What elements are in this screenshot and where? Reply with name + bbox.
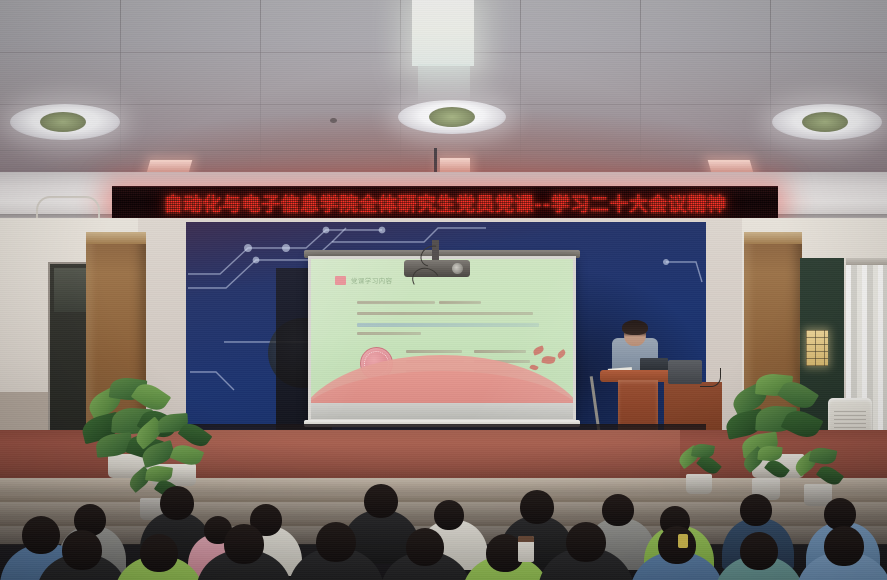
- audience-head: [740, 532, 778, 570]
- slide-body-line-highlight: [357, 323, 539, 327]
- projection-screen: 党课学习内容: [308, 256, 576, 422]
- slide-body-line: [357, 301, 435, 304]
- slide-body-line: [439, 301, 481, 304]
- audience-phone: [678, 534, 688, 548]
- doorway-transom: [54, 268, 88, 312]
- smoke-detector-icon: [330, 118, 337, 123]
- led-scrolling-banner: 自动化与电子信息学院全体研究生党员党课--学习二十大会议精神: [112, 186, 778, 220]
- audience-cup: [518, 536, 534, 562]
- audience-head: [406, 528, 444, 566]
- audience-head: [602, 494, 634, 526]
- audience-head: [140, 534, 178, 572]
- oval-light-right: [772, 104, 882, 140]
- audience-head: [224, 524, 264, 564]
- audience-head: [364, 484, 398, 518]
- slide-bird-icon: [532, 345, 545, 355]
- slide-body-line: [357, 332, 421, 335]
- slide-item: [406, 350, 462, 353]
- seated-audience: [0, 468, 887, 580]
- door-window-grid: [806, 330, 828, 366]
- equipment-box: [668, 360, 702, 384]
- curtain-rod: [846, 258, 887, 265]
- skylight-glow: [418, 64, 470, 104]
- presentation-slide: 党课学习内容: [311, 259, 573, 419]
- audience-head: [658, 526, 696, 564]
- audience-head: [520, 490, 554, 524]
- audience-head: [434, 500, 464, 530]
- ceiling-skylight-panel: [412, 0, 474, 66]
- slide-body-line: [357, 312, 533, 315]
- audience-head: [824, 526, 864, 566]
- audience-head: [160, 486, 194, 520]
- cup-lid: [518, 536, 534, 542]
- projector-lens: [452, 263, 463, 274]
- wall-conduit: [36, 196, 100, 220]
- speaker-hair: [622, 320, 648, 335]
- oval-light-center: [398, 100, 506, 134]
- lecture-hall-photo: 自动化与电子信息学院全体研究生党员党课--学习二十大会议精神: [0, 0, 887, 580]
- slide-bottom-bar: [311, 403, 573, 419]
- oval-light-left: [10, 104, 120, 140]
- audience-head: [22, 516, 60, 554]
- slide-bird-icon: [556, 349, 567, 359]
- audience-head: [824, 498, 856, 530]
- audience-head: [316, 522, 356, 562]
- led-banner-text: 自动化与电子信息学院全体研究生党员党课--学习二十大会议精神: [120, 190, 770, 217]
- slide-bird-icon: [541, 355, 555, 366]
- slide-title-bullet: [335, 276, 346, 285]
- pillar-right-capital: [744, 232, 802, 244]
- door-light-window: [806, 330, 828, 366]
- slide-item: [474, 350, 526, 353]
- audience-head: [740, 494, 772, 526]
- audience-head: [62, 530, 102, 570]
- audience-head: [566, 522, 606, 562]
- pillar-left-capital: [86, 232, 146, 244]
